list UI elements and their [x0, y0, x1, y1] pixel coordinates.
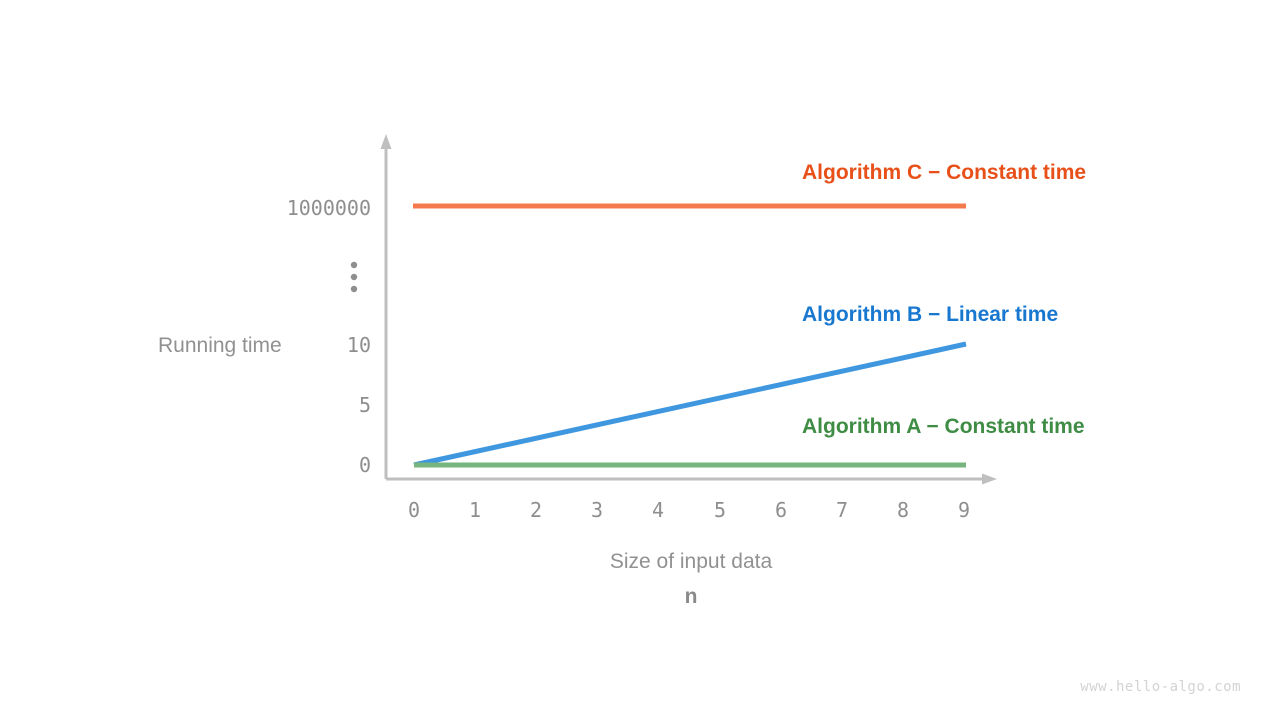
x-tick-label-9: 9	[958, 498, 970, 522]
y-tick-ellipsis-icon	[351, 262, 357, 292]
y-tick-label-5: 5	[359, 393, 371, 417]
y-axis-title: Running time	[158, 334, 282, 357]
complexity-comparison-chart: 1000000 10 5 0 Running time 0 1 2 3 4 5 …	[0, 0, 1280, 720]
legend-item-algorithm-a: Algorithm A − Constant time	[802, 415, 1085, 438]
y-tick-label-1000000: 1000000	[287, 196, 371, 220]
x-tick-label-7: 7	[836, 498, 848, 522]
y-tick-label-10: 10	[347, 333, 371, 357]
legend-item-algorithm-b: Algorithm B − Linear time	[802, 303, 1058, 326]
x-tick-label-0: 0	[408, 498, 420, 522]
x-tick-label-8: 8	[897, 498, 909, 522]
x-axis-title: Size of input data	[610, 550, 773, 573]
y-axis-arrow-icon	[381, 134, 392, 149]
x-tick-label-6: 6	[775, 498, 787, 522]
legend-item-algorithm-c: Algorithm C − Constant time	[802, 161, 1086, 184]
x-tick-label-1: 1	[469, 498, 481, 522]
y-axis-tick-labels: 1000000 10 5 0	[287, 196, 371, 477]
series-line-algorithm-b	[414, 344, 966, 465]
x-axis-title-symbol: n	[685, 585, 698, 608]
y-tick-label-0: 0	[359, 453, 371, 477]
x-axis-tick-labels: 0 1 2 3 4 5 6 7 8 9	[408, 498, 970, 522]
x-tick-label-4: 4	[652, 498, 664, 522]
x-tick-label-5: 5	[714, 498, 726, 522]
x-axis-arrow-icon	[982, 474, 997, 485]
watermark-text: www.hello-algo.com	[1080, 679, 1241, 695]
x-tick-label-3: 3	[591, 498, 603, 522]
x-tick-label-2: 2	[530, 498, 542, 522]
legend-group: Algorithm C − Constant time Algorithm B …	[802, 161, 1086, 438]
